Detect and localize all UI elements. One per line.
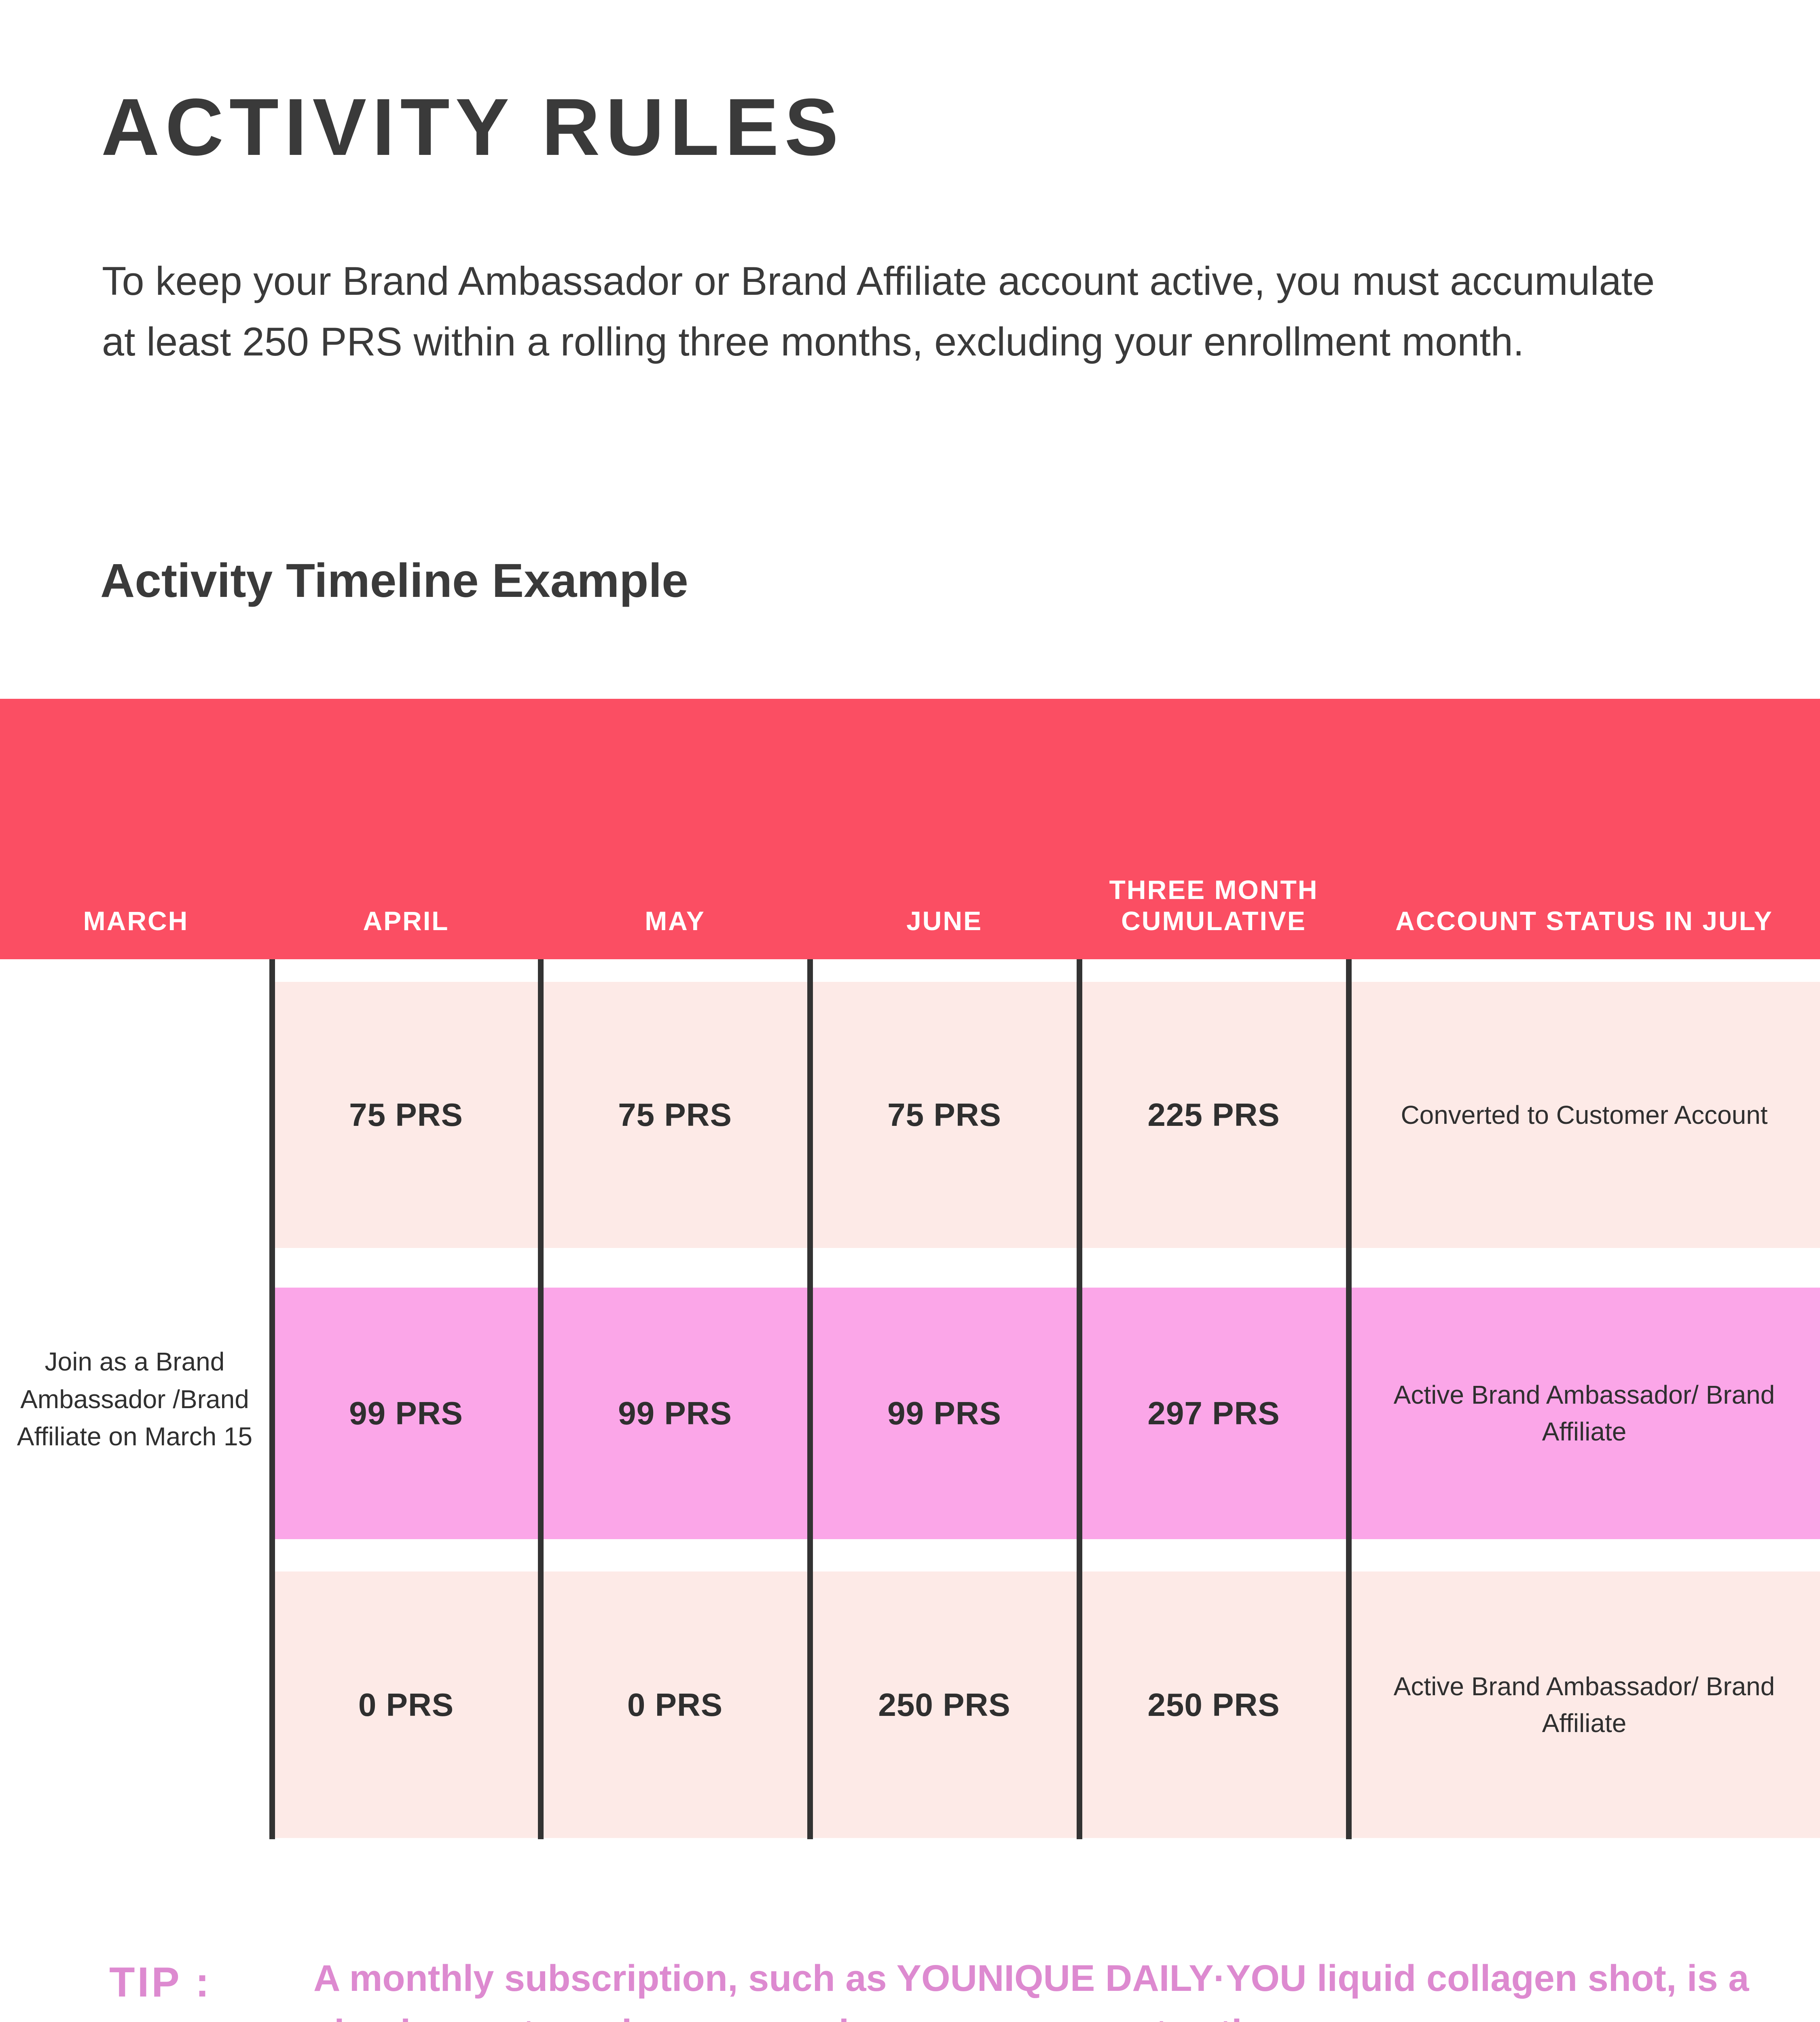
page-title: ACTIVITY RULES (101, 87, 844, 168)
intro-paragraph: To keep your Brand Ambassador or Brand A… (102, 251, 1659, 372)
cell-account-status: Converted to Customer Account (1348, 982, 1820, 1248)
cell-account-status: Active Brand Ambassador/ Brand Affiliate (1348, 1571, 1820, 1838)
cell-may-prs: 99 PRS (540, 1288, 810, 1539)
cell-june-prs: 75 PRS (810, 982, 1079, 1248)
table-body: 75 PRS 75 PRS 75 PRS 225 PRS Converted t… (0, 959, 1820, 1839)
column-header-april: APRIL (272, 905, 540, 937)
column-header-may: MAY (540, 905, 810, 937)
cell-cumulative-prs: 250 PRS (1079, 1571, 1348, 1838)
cell-cumulative-prs: 297 PRS (1079, 1288, 1348, 1539)
table-row: 99 PRS 99 PRS 99 PRS 297 PRS Active Bran… (272, 1288, 1820, 1539)
section-subtitle: Activity Timeline Example (100, 553, 688, 608)
table-row: 0 PRS 0 PRS 250 PRS 250 PRS Active Brand… (272, 1571, 1820, 1838)
column-divider (1346, 959, 1352, 1839)
column-header-account-status-in-july: ACCOUNT STATUS IN JULY (1348, 905, 1820, 937)
cell-may-prs: 0 PRS (540, 1571, 810, 1838)
march-enrollment-note: Join as a Brand Ambassador /Brand Affili… (0, 959, 269, 1839)
cell-june-prs: 250 PRS (810, 1571, 1079, 1838)
tip-label: TIP : (109, 1959, 212, 2007)
cell-april-prs: 99 PRS (272, 1288, 540, 1539)
cell-june-prs: 99 PRS (810, 1288, 1079, 1539)
table-header-row: MARCH APRIL MAY JUNE THREE MONTH CUMULAT… (0, 699, 1820, 959)
column-divider (1077, 959, 1082, 1839)
column-divider (538, 959, 544, 1839)
cell-april-prs: 0 PRS (272, 1571, 540, 1838)
column-header-three-month-cumulative: THREE MONTH CUMULATIVE (1079, 874, 1348, 937)
tip-text: A monthly subscription, such as YOUNIQUE… (313, 1951, 1753, 2022)
cell-may-prs: 75 PRS (540, 982, 810, 1248)
column-header-june: JUNE (810, 905, 1079, 937)
column-header-march: MARCH (0, 905, 272, 937)
cell-account-status: Active Brand Ambassador/ Brand Affiliate (1348, 1288, 1820, 1539)
activity-timeline-table: MARCH APRIL MAY JUNE THREE MONTH CUMULAT… (0, 699, 1820, 1839)
column-divider (269, 959, 275, 1839)
cell-april-prs: 75 PRS (272, 982, 540, 1248)
cell-cumulative-prs: 225 PRS (1079, 982, 1348, 1248)
column-divider (807, 959, 813, 1839)
table-row: 75 PRS 75 PRS 75 PRS 225 PRS Converted t… (272, 982, 1820, 1248)
